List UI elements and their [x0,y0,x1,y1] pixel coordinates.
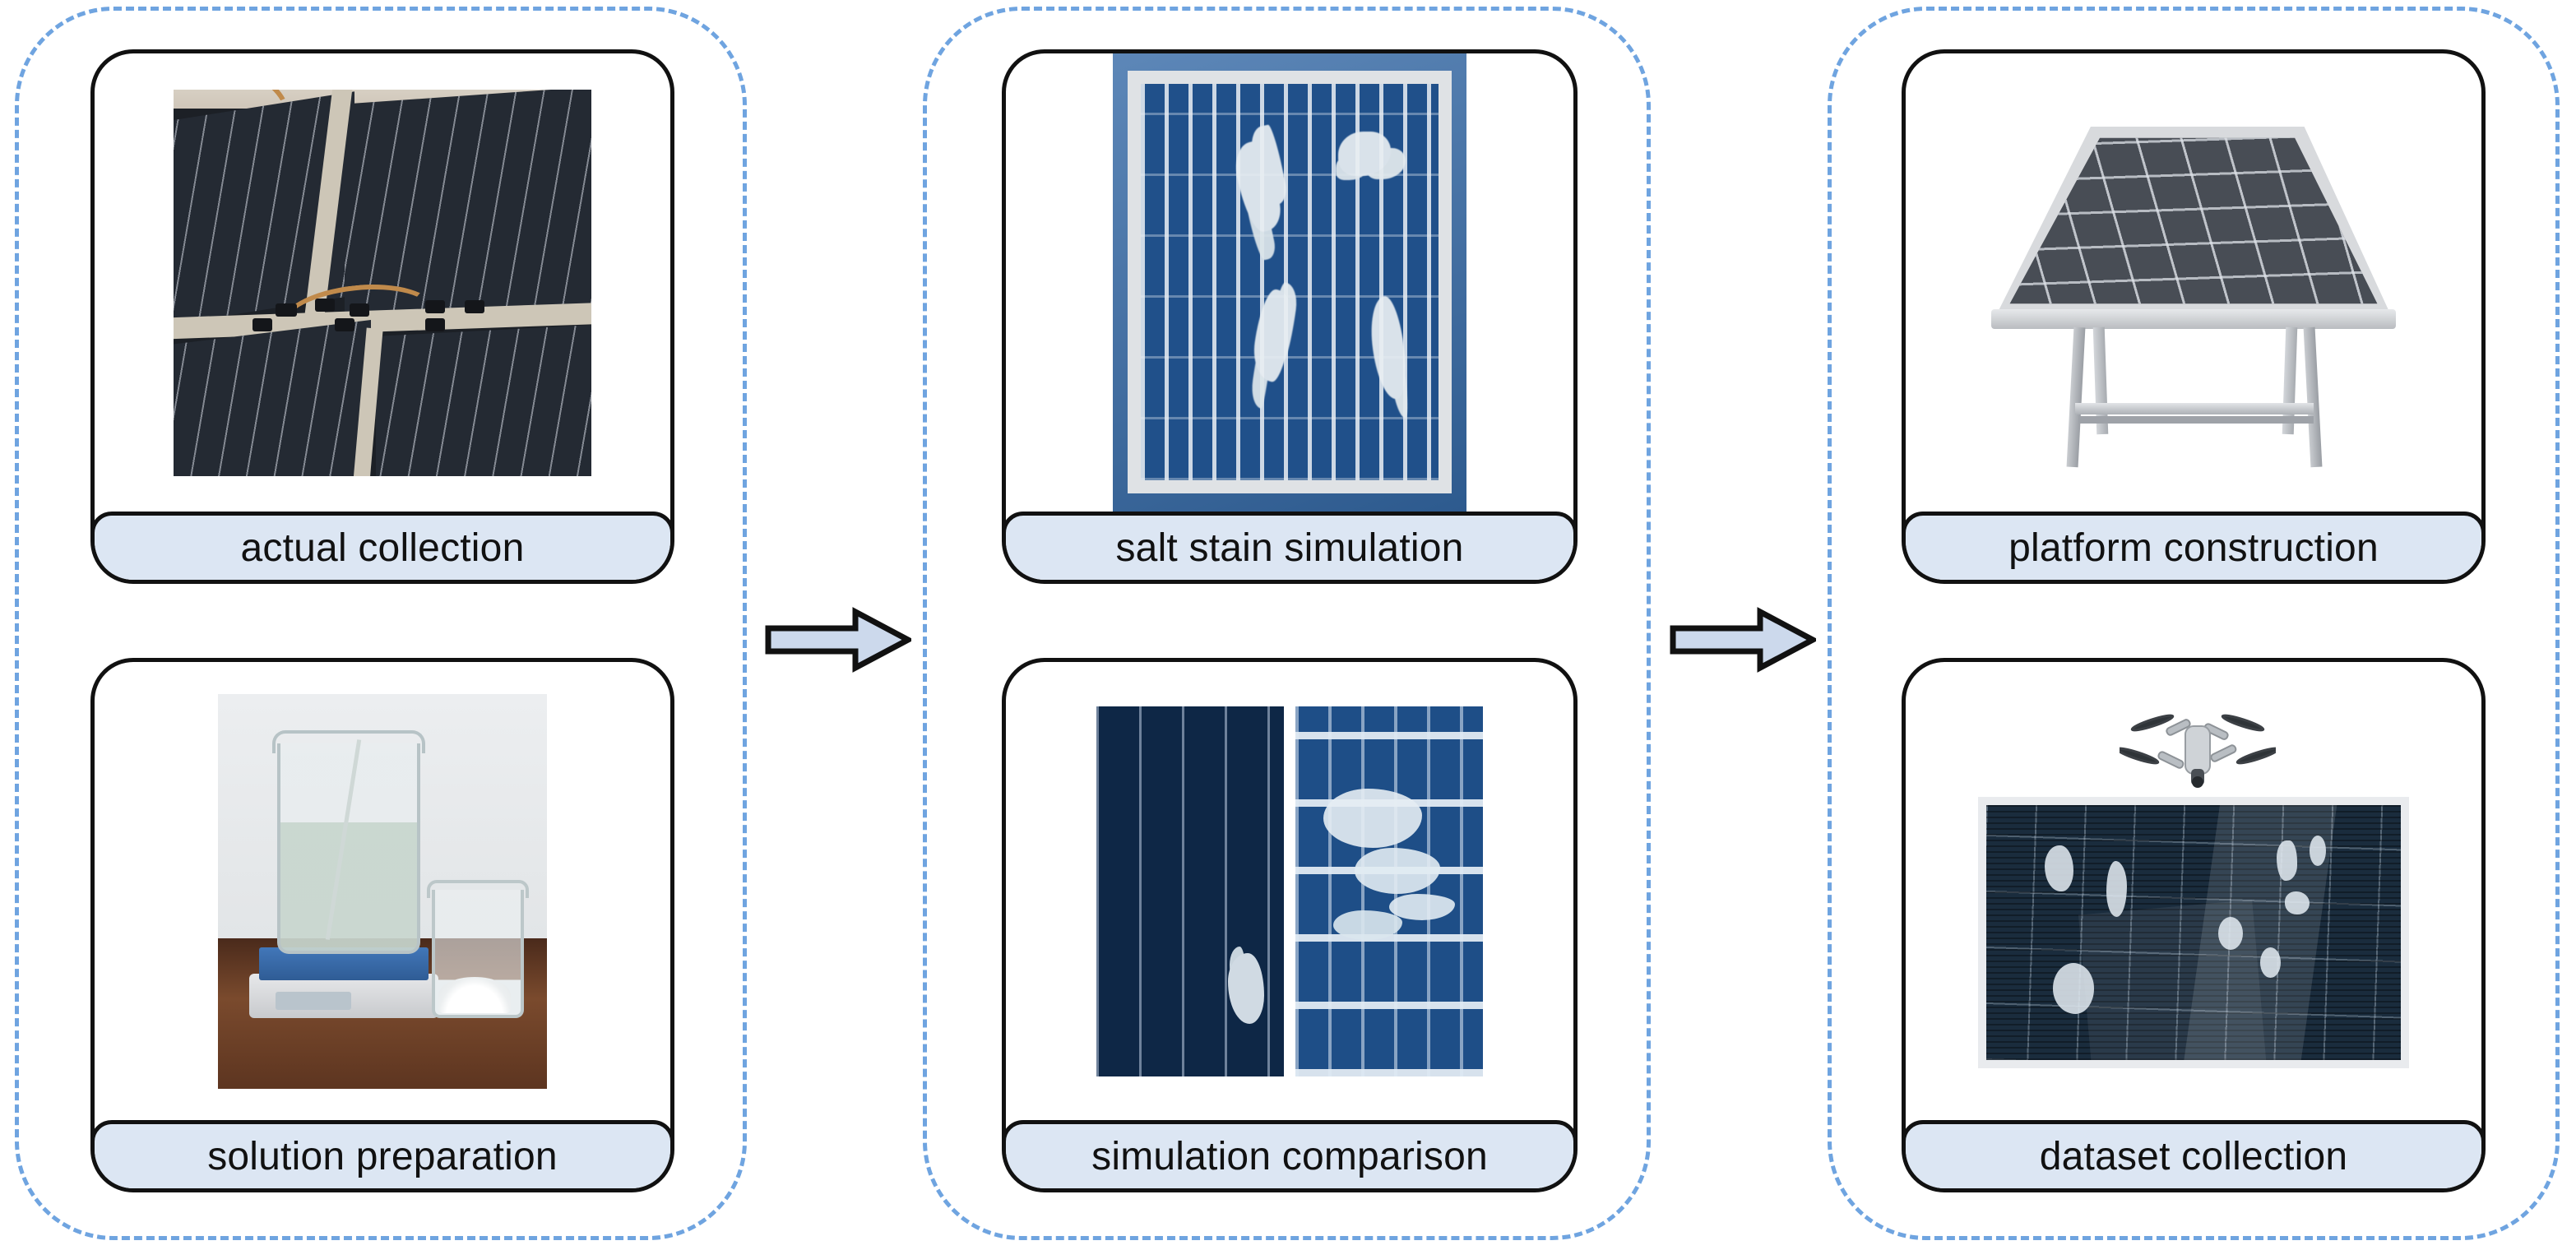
photo-mono-vs-poly-panel-stain-comparison [1096,706,1483,1076]
card-platform-construction[interactable]: platform construction [1902,49,2486,584]
drone-icon [2120,705,2276,795]
card-label-simulation-comparison: simulation comparison [1002,1120,1578,1192]
arrow-stage2-to-stage3 [1670,607,1816,673]
card-dataset-collection[interactable]: dataset collection [1902,658,2486,1192]
card-media-solution-preparation [95,662,670,1120]
card-media-salt-stain-simulation [1006,53,1573,512]
card-media-dataset-collection [1906,662,2481,1120]
card-label-solution-preparation: solution preparation [90,1120,674,1192]
card-media-platform-construction [1906,53,2481,512]
card-media-actual-collection [95,53,670,512]
photo-solar-panel-array-rooftop [174,90,591,476]
card-salt-stain-simulation[interactable]: salt stain simulation [1002,49,1578,584]
card-label-actual-collection: actual collection [90,512,674,584]
card-actual-collection[interactable]: actual collection [90,49,674,584]
card-label-platform-construction: platform construction [1902,512,2486,584]
card-media-simulation-comparison [1006,662,1573,1120]
card-simulation-comparison[interactable]: simulation comparison [1002,658,1578,1192]
card-label-salt-stain-simulation: salt stain simulation [1002,512,1578,584]
photo-drone-imaging-stained-panel [1963,698,2424,1085]
card-label-dataset-collection: dataset collection [1902,1120,2486,1192]
photo-panel-mounted-on-metal-stand [1971,94,2416,472]
arrow-stage1-to-stage2 [765,607,911,673]
photo-polycrystalline-panel-with-salt-stains [1113,53,1466,512]
photo-beaker-on-balance-with-salt [218,694,547,1089]
card-solution-preparation[interactable]: solution preparation [90,658,674,1192]
